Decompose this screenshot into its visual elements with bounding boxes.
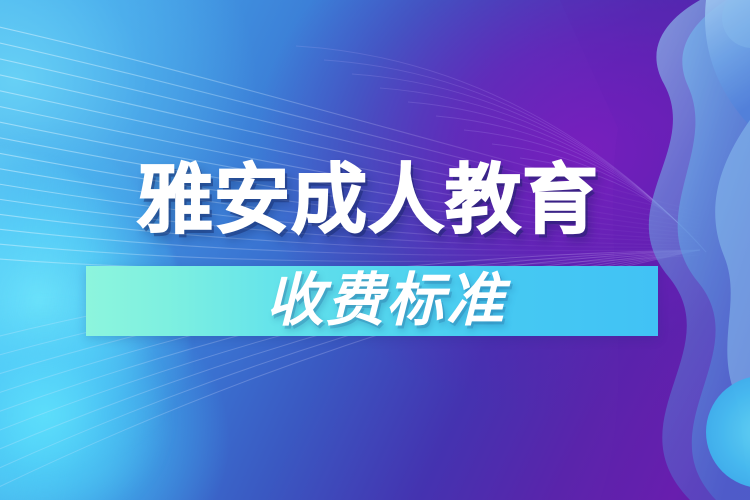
promo-banner: 雅安成人教育 收费标准 [0, 0, 750, 500]
right-ribbon-waves [0, 0, 750, 500]
banner-headline: 雅安成人教育 [137, 158, 599, 244]
banner-subtitle: 收费标准 [266, 269, 686, 333]
